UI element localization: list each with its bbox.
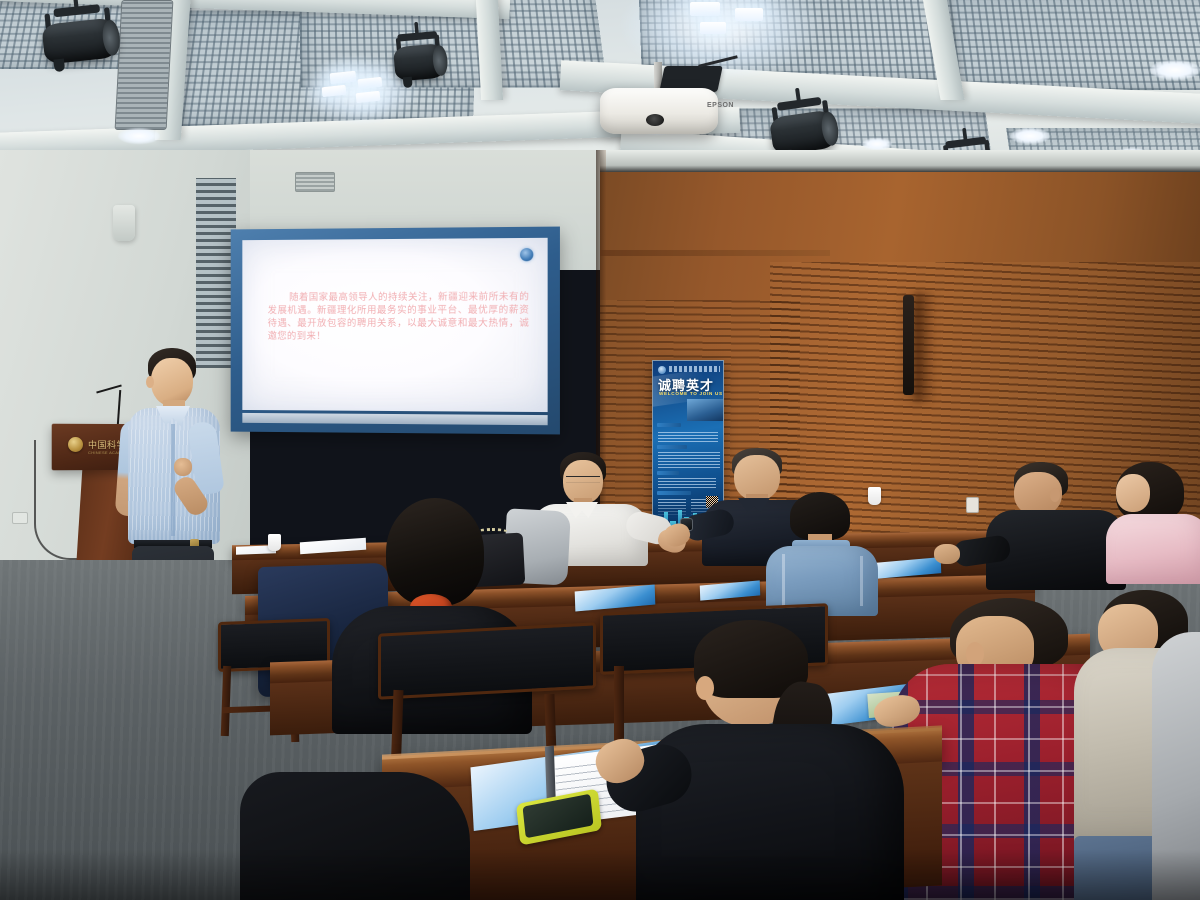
attendee-pink-blouse: [1110, 462, 1200, 577]
slide-body-text: 随着国家最高领导人的持续关注，新疆迎来前所未有的发展机遇。新疆理化所用最务实的事…: [268, 291, 530, 344]
poster-subhead: WELCOME TO JOIN US: [659, 391, 723, 396]
presenter-head: [151, 358, 193, 406]
denim-seam: [860, 556, 863, 606]
foreground-shadow: [0, 850, 1200, 900]
attendee-ear: [1050, 488, 1060, 502]
attendee-hair: [386, 498, 484, 606]
poster-photo: [687, 399, 723, 421]
poster-section-header: [657, 491, 691, 495]
glasses-icon: [566, 476, 600, 483]
attendee-black-top-scrunchie: [338, 498, 528, 733]
wall-panel-divider: [600, 250, 830, 256]
poster-section-header: [657, 471, 679, 475]
attendee-head: [1116, 474, 1150, 512]
conference-room-photo: EPSON 随着国家最高领导人的持续关注，新疆迎来前所未有的发展机遇。新疆理化所…: [0, 0, 1200, 900]
poster-section-header: [657, 445, 687, 449]
chair-leg: [614, 666, 624, 744]
presenter-shirt-placket: [171, 424, 175, 536]
attendee-denim-jacket: [768, 492, 880, 612]
denim-seam: [782, 554, 785, 608]
recessed-downlight: [1010, 128, 1050, 144]
recessed-downlight: [1150, 60, 1200, 80]
projector-brand-label: EPSON: [707, 102, 734, 109]
presenter-hand: [174, 458, 192, 476]
attendee-ear: [696, 676, 714, 700]
wall-socket: [12, 512, 28, 524]
screen-bottom-bar: [242, 413, 547, 425]
wall-speaker: [113, 205, 135, 241]
projector-lens: [646, 114, 664, 126]
wall-outlet: [966, 497, 979, 513]
sconce-shadow: [915, 292, 937, 402]
projector-body: [600, 88, 718, 134]
ceiling-projector: EPSON: [600, 62, 750, 142]
projected-slide: 随着国家最高领导人的持续关注，新疆迎来前所未有的发展机遇。新疆理化所用最务实的事…: [242, 238, 547, 412]
wall-vent: [295, 172, 335, 192]
attendee-blouse: [1106, 514, 1200, 584]
recessed-downlight: [862, 138, 892, 150]
presenter-ear: [146, 376, 154, 388]
stage-spotlight: [38, 0, 120, 81]
air-duct: [115, 0, 174, 130]
ceiling-light: [690, 2, 720, 16]
institute-logo-icon: [520, 248, 533, 261]
poster-logo-icon: [658, 366, 666, 374]
poster-body-text: [658, 430, 718, 442]
projection-screen: 随着国家最高领导人的持续关注，新疆迎来前所未有的发展机遇。新疆理化所用最务实的事…: [231, 227, 560, 435]
poster-org-line: [669, 366, 720, 372]
ceiling-cornice: [600, 150, 1200, 172]
recessed-downlight: [118, 128, 160, 144]
wall-sconce: [903, 295, 914, 395]
attendee-hand: [934, 544, 960, 564]
attendee-hair: [790, 492, 850, 540]
ceiling-light: [700, 22, 726, 34]
stage-spotlight: [391, 20, 447, 85]
paper-cup: [268, 534, 281, 551]
attendee-black-shirt: [992, 462, 1122, 587]
ceiling-light: [735, 8, 763, 21]
poster-section-header: [657, 423, 681, 427]
academy-emblem-icon: [68, 437, 83, 452]
attendee-ear: [966, 642, 984, 666]
chair: [378, 622, 596, 699]
